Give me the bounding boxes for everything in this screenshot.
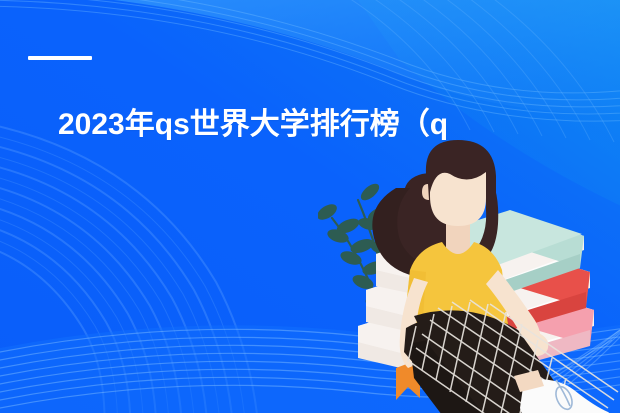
top-swoosh (0, 0, 620, 113)
character-neck (446, 222, 470, 254)
illustration-graphic (318, 130, 620, 413)
qs-ranking-banner: 2023年qs世界大学排行榜（q (0, 0, 620, 413)
illustration-woman-sitting-on-books (318, 130, 620, 413)
accent-divider (28, 56, 92, 60)
